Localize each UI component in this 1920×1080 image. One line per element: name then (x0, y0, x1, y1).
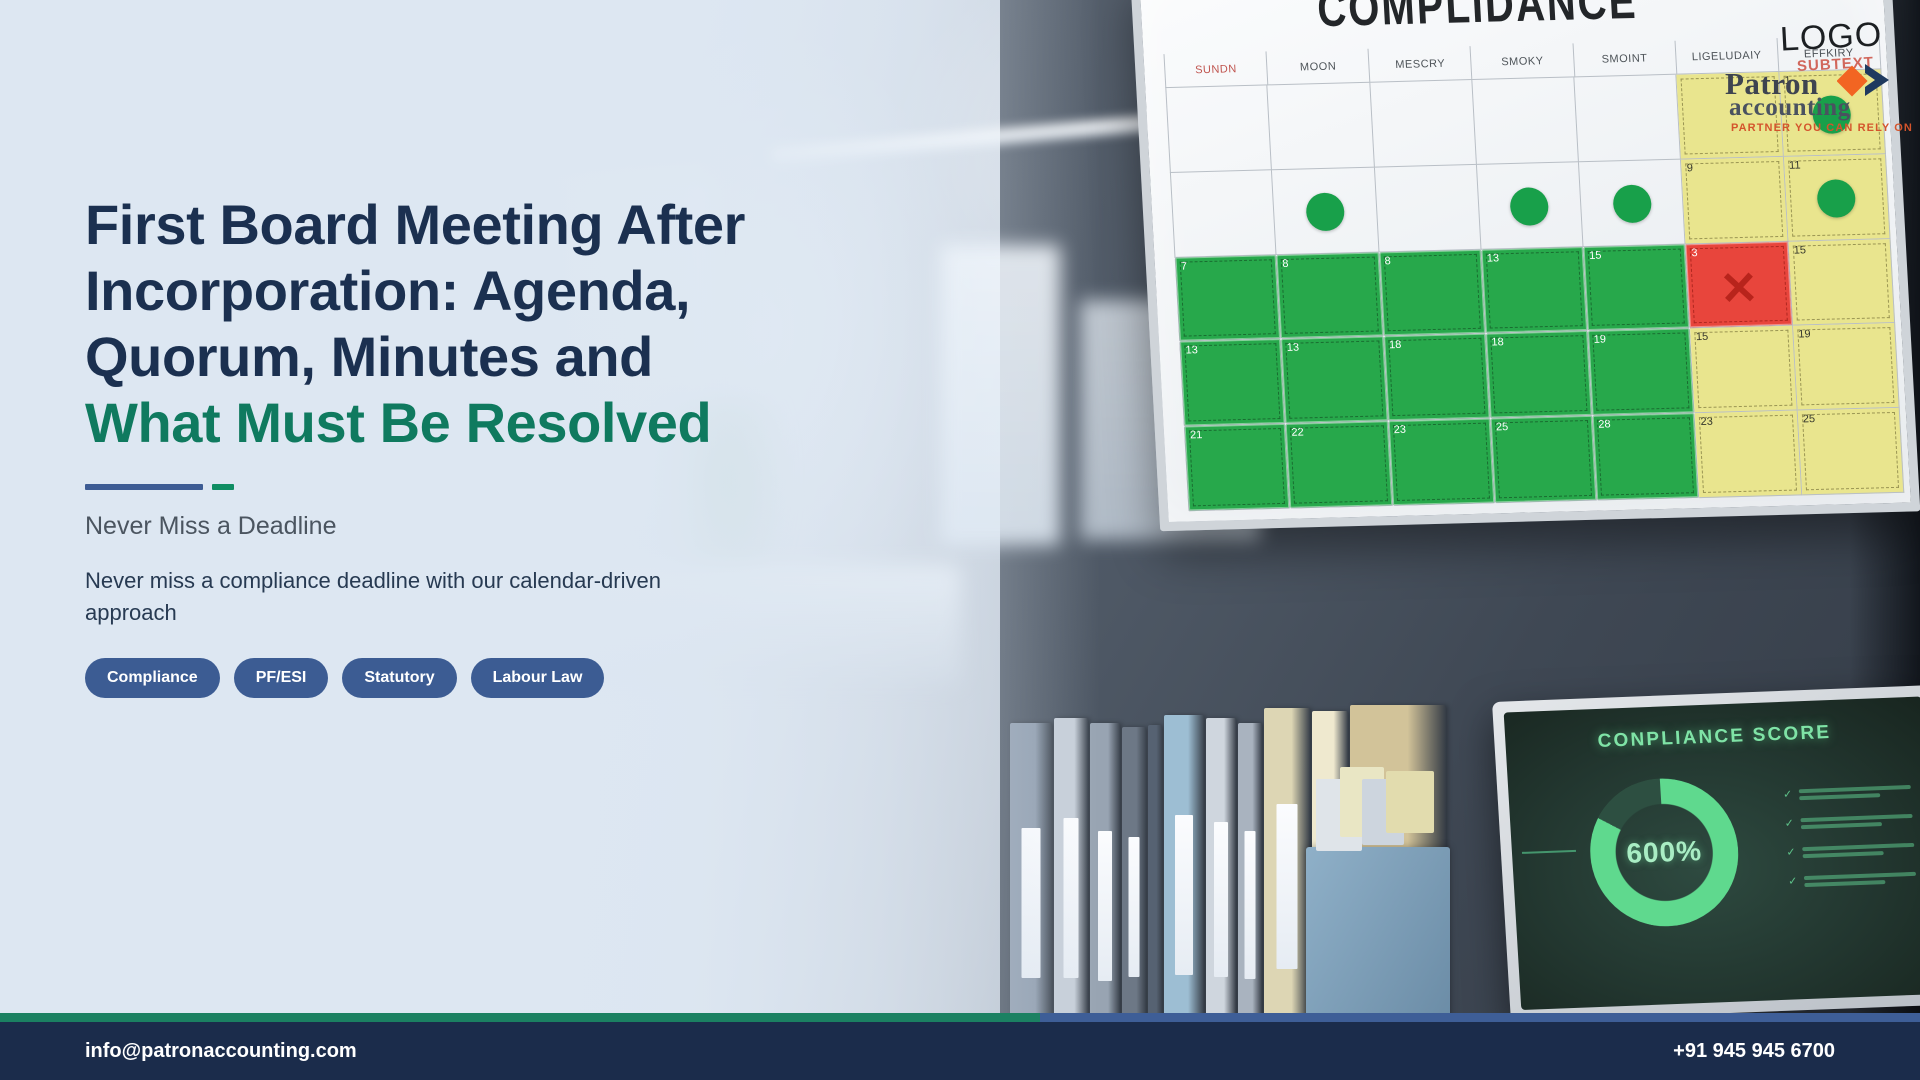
document-binder (1238, 723, 1262, 1023)
calendar-cell[interactable]: 19 (1588, 329, 1695, 416)
calendar-cell-number: 28 (1598, 419, 1611, 431)
calendar-cell-number: 8 (1384, 255, 1391, 267)
binder-spine-label (1214, 822, 1228, 977)
page-title: First Board Meeting After Incorporation:… (85, 192, 785, 456)
calendar-cell[interactable] (1170, 170, 1277, 257)
calendar-cell-number: 7 (1181, 260, 1188, 272)
headline-line-1: First Board Meeting After (85, 193, 745, 256)
calendar-cell-number: 21 (1190, 429, 1203, 441)
tag-pill[interactable]: Statutory (342, 658, 456, 698)
calendar-cell[interactable]: 22 (1286, 421, 1393, 508)
calendar-cell-number: 3 (1691, 247, 1698, 259)
calendar-cell[interactable] (1374, 165, 1481, 252)
footer-accent-bar (0, 1013, 1920, 1022)
calendar-cell-number: 23 (1393, 424, 1406, 436)
compliance-checklist: ✓✓✓✓ (1783, 785, 1918, 906)
gauge-tick (1522, 850, 1576, 854)
file-holder (1306, 847, 1450, 1023)
calendar-cell[interactable]: 15 (1584, 244, 1691, 331)
tag-pill-list: CompliancePF/ESIStatutoryLabour Law (85, 658, 785, 698)
calendar-cell[interactable] (1477, 162, 1584, 249)
missed-deadline-x-icon: ✕ (1719, 264, 1760, 311)
calendar-day-header: MESCRY (1369, 46, 1473, 83)
placeholder-logo-text: LOGO (1779, 15, 1883, 59)
check-icon: ✓ (1788, 876, 1799, 888)
description-text: Never miss a compliance deadline with ou… (85, 565, 725, 627)
calendar-cell[interactable]: 18 (1384, 334, 1491, 421)
calendar-cell[interactable]: 15 (1691, 326, 1798, 413)
check-icon: ✓ (1786, 847, 1797, 859)
calendar-cell[interactable] (1165, 85, 1272, 172)
divider-bar-blue (85, 484, 203, 490)
footer-email[interactable]: info@patronaccounting.com (85, 1040, 357, 1063)
checklist-item: ✓ (1786, 843, 1915, 862)
calendar-cell[interactable]: 8 (1379, 249, 1486, 336)
checklist-item-text (1800, 814, 1913, 832)
checklist-item: ✓ (1783, 785, 1912, 804)
calendar-grid: 191178813153✕151313181819151921222325282… (1165, 69, 1904, 511)
calendar-cell-number: 15 (1589, 249, 1602, 261)
binder-spine-label (1245, 831, 1256, 979)
calendar-cell-number: 19 (1593, 334, 1606, 346)
document-binder (1206, 718, 1236, 1023)
hero-banner: COMPLIDANCE SUNDNMOONMESCRYSMOKYSMOINTLI… (0, 0, 1920, 1080)
footer-bar: info@patronaccounting.com +91 945 945 67… (0, 1022, 1920, 1080)
completed-deadline-dot-icon (1817, 179, 1857, 218)
calendar-cell[interactable] (1574, 75, 1681, 162)
compliance-score-tablet: CONPLIANCE SCORE 600% ✓✓✓✓ (1492, 685, 1920, 1032)
calendar-cell-number: 13 (1487, 252, 1500, 264)
calendar-day-header: SMOKY (1471, 43, 1575, 80)
calendar-day-header: SUNDN (1163, 51, 1268, 88)
check-icon: ✓ (1783, 789, 1794, 801)
headline-accent-line: What Must Be Resolved (85, 390, 785, 456)
binder-spine-label (1129, 837, 1140, 977)
brand-tagline: PARTNER YOU CAN RELY ON (1731, 122, 1913, 134)
footer-phone[interactable]: +91 945 945 6700 (1673, 1040, 1835, 1063)
calendar-cell-number: 13 (1287, 342, 1300, 354)
calendar-cell[interactable] (1370, 80, 1477, 167)
calendar-cell[interactable]: 3✕ (1686, 241, 1793, 328)
calendar-cell[interactable]: 25 (1797, 408, 1904, 495)
accent-bar-blue (1040, 1013, 1920, 1022)
board-title: COMPLIDANCE (1316, 0, 1639, 39)
calendar-cell[interactable]: 21 (1184, 424, 1291, 511)
calendar-cell[interactable] (1268, 83, 1375, 170)
checklist-item-text (1802, 843, 1915, 861)
calendar-cell-number: 8 (1282, 257, 1289, 269)
brand-logo: Patron accounting PARTNER YOU CAN RELY O… (1725, 62, 1915, 132)
document-binder (1148, 725, 1162, 1023)
calendar-cell[interactable]: 19 (1793, 323, 1900, 410)
calendar-cell[interactable]: 7 (1175, 255, 1282, 342)
calendar-cell[interactable]: 13 (1179, 339, 1286, 426)
calendar-cell-number: 19 (1798, 329, 1811, 341)
calendar-cell-number: 25 (1803, 413, 1816, 425)
calendar-cell[interactable]: 18 (1486, 331, 1593, 418)
compliance-score-value: 600% (1586, 776, 1743, 929)
calendar-cell-number: 22 (1291, 427, 1304, 439)
completed-deadline-dot-icon (1612, 185, 1652, 224)
calendar-day-header: MOON (1267, 49, 1371, 86)
compliance-score-title: CONPLIANCE SCORE (1505, 718, 1920, 756)
calendar-cell-number: 18 (1491, 337, 1504, 349)
calendar-cell[interactable]: 23 (1388, 419, 1495, 506)
calendar-day-header: SMOINT (1573, 41, 1677, 78)
tag-pill[interactable]: PF/ESI (234, 658, 329, 698)
calendar-cell[interactable]: 8 (1277, 252, 1384, 339)
tag-pill[interactable]: Labour Law (471, 658, 605, 698)
document-binder (1264, 708, 1310, 1023)
checklist-item-text (1799, 785, 1912, 803)
calendar-cell-number: 15 (1696, 331, 1709, 343)
calendar-cell[interactable]: 13 (1481, 247, 1588, 334)
tag-pill[interactable]: Compliance (85, 658, 220, 698)
calendar-cell-number: 23 (1700, 416, 1713, 428)
calendar-cell[interactable] (1472, 77, 1579, 164)
checklist-item: ✓ (1788, 872, 1917, 891)
calendar-cell-number: 9 (1687, 162, 1694, 174)
kicker-text: Never Miss a Deadline (85, 512, 785, 541)
hero-content: First Board Meeting After Incorporation:… (85, 192, 785, 698)
checklist-item: ✓ (1784, 814, 1913, 833)
check-icon: ✓ (1784, 818, 1795, 830)
headline-line-3: Quorum, Minutes and (85, 325, 653, 388)
brand-subname: accounting (1729, 94, 1851, 122)
calendar-cell[interactable]: 13 (1281, 337, 1388, 424)
calendar-cell[interactable] (1272, 167, 1379, 254)
document-binder (1122, 727, 1146, 1023)
binder-spine-label (1277, 804, 1298, 969)
completed-deadline-dot-icon (1305, 193, 1345, 232)
headline-line-2: Incorporation: Agenda, (85, 259, 690, 322)
filed-document (1386, 771, 1434, 833)
divider-bar-green (212, 484, 234, 490)
calendar-cell[interactable]: 25 (1491, 416, 1598, 503)
calendar-cell-number: 13 (1185, 345, 1198, 357)
calendar-cell-number: 18 (1389, 339, 1402, 351)
document-binder (1164, 715, 1204, 1023)
calendar-cell-number: 25 (1496, 421, 1509, 433)
calendar-cell[interactable]: 15 (1788, 239, 1895, 326)
calendar-cell[interactable]: 28 (1593, 413, 1700, 500)
calendar-cell[interactable]: 9 (1681, 157, 1788, 244)
binder-spine-label (1175, 815, 1193, 975)
completed-deadline-dot-icon (1510, 187, 1550, 226)
calendar-cell[interactable] (1579, 159, 1686, 246)
calendar-cell[interactable]: 23 (1695, 411, 1802, 498)
binder-spine-label (1098, 831, 1112, 981)
calendar-cell-number: 15 (1793, 244, 1806, 256)
accent-bar-green (0, 1013, 1040, 1022)
calendar-cell[interactable]: 11 (1784, 154, 1891, 241)
checklist-item-text (1804, 872, 1917, 890)
calendar-cell-number: 11 (1789, 159, 1801, 171)
divider (85, 484, 785, 490)
